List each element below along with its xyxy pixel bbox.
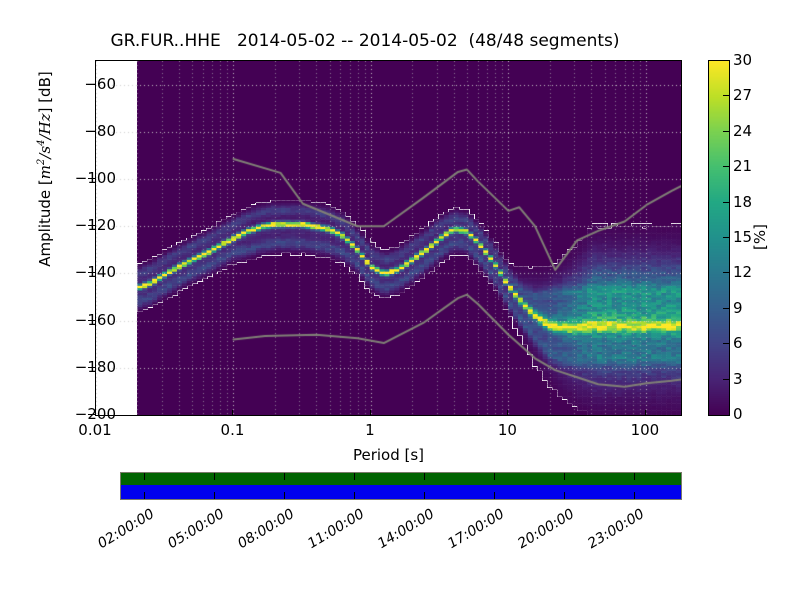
time-tick-label: 17:00:00 [445,506,507,552]
time-tick-label: 11:00:00 [305,506,367,552]
x-tick-mark [232,410,233,416]
colorbar-tick-label: 27 [733,86,752,104]
y-tick-mark [88,131,95,132]
colorbar-tick-label: 21 [733,157,752,175]
y-tick-label: −100 [75,169,116,187]
x-tick-mark [95,410,96,416]
colorbar-tick-label: 9 [733,299,743,317]
colorbar-tick-mark [723,131,729,132]
time-tick-label: 23:00:00 [585,506,647,552]
y-tick-label: −140 [75,263,116,281]
time-coverage-tick [564,492,565,499]
y-tick-mark [88,178,95,179]
time-coverage-tick [144,473,145,480]
time-coverage-tick [354,492,355,499]
y-axis-label: Amplitude [m2/s4/Hz] [dB] [36,0,54,369]
colorbar-tick-label: 0 [733,405,743,423]
y-tick-mark [88,414,95,415]
time-tick-label: 02:00:00 [95,506,157,552]
colorbar-tick-mark [723,379,729,380]
time-coverage-tick [424,473,425,480]
time-coverage-tick [634,473,635,480]
time-coverage-tick [494,473,495,480]
y-tick-label: −160 [75,311,116,329]
y-tick-mark [88,320,95,321]
time-tick-label: 05:00:00 [165,506,227,552]
x-tick-label: 100 [631,421,660,439]
time-tick-label: 14:00:00 [375,506,437,552]
noise-model-overlay-canvas [96,61,681,415]
ppsd-plot-area[interactable] [95,60,682,416]
x-tick-mark [370,410,371,416]
y-tick-label: −120 [75,216,116,234]
colorbar-tick-mark [723,272,729,273]
time-coverage-tick [354,473,355,480]
colorbar-tick-mark [723,237,729,238]
colorbar-tick-mark [723,166,729,167]
time-coverage-tick [564,473,565,480]
x-axis-label: Period [s] [95,446,682,464]
time-coverage-tick [214,473,215,480]
colorbar-tick-label: 3 [733,370,743,388]
colorbar-tick-label: 15 [733,228,752,246]
time-coverage-tick [284,492,285,499]
x-tick-label: 0.1 [221,421,245,439]
time-coverage-tick [214,492,215,499]
colorbar-tick-label: 12 [733,263,752,281]
colorbar-tick-mark [723,308,729,309]
time-coverage-tick [144,492,145,499]
time-coverage-tick [284,473,285,480]
ppsd-figure: GR.FUR..HHE 2014-05-02 -- 2014-05-02 (48… [0,0,800,600]
colorbar-label: [%] [751,177,769,297]
time-coverage-green-band [121,473,681,485]
colorbar[interactable] [708,60,730,416]
y-tick-mark [88,225,95,226]
figure-title: GR.FUR..HHE 2014-05-02 -- 2014-05-02 (48… [0,31,730,51]
colorbar-tick-label: 6 [733,334,743,352]
time-tick-label: 20:00:00 [515,506,577,552]
y-tick-label: −180 [75,358,116,376]
x-tick-mark [507,410,508,416]
colorbar-tick-mark [723,95,729,96]
x-tick-label: 10 [498,421,517,439]
colorbar-tick-label: 18 [733,193,752,211]
time-coverage-tick [494,492,495,499]
y-tick-mark [88,84,95,85]
x-tick-label: 1 [365,421,375,439]
colorbar-tick-label: 30 [733,51,752,69]
colorbar-tick-mark [723,343,729,344]
colorbar-tick-mark [723,202,729,203]
y-tick-mark [88,272,95,273]
x-tick-label: 0.01 [78,421,111,439]
y-tick-mark [88,367,95,368]
time-coverage-blue-band [121,485,681,499]
colorbar-tick-label: 24 [733,122,752,140]
time-coverage-bar[interactable] [120,472,682,500]
colorbar-gradient [709,61,729,415]
x-tick-mark [645,410,646,416]
time-coverage-tick [424,492,425,499]
time-tick-label: 08:00:00 [235,506,297,552]
time-coverage-tick [634,492,635,499]
